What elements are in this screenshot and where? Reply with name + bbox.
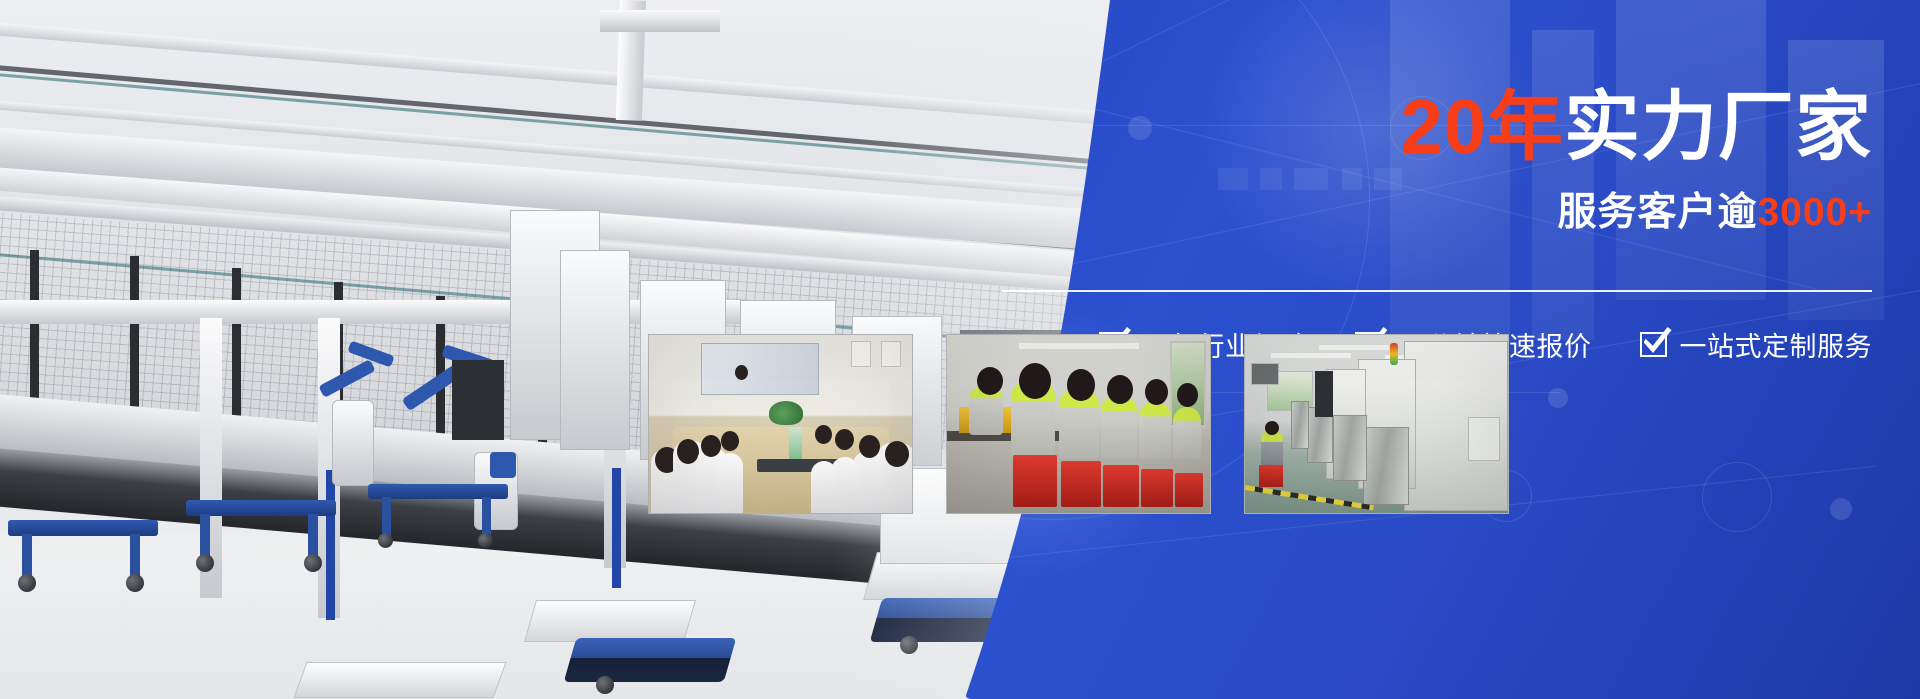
line-worker-3-head xyxy=(1107,375,1133,404)
headline-plain: 实力厂家 xyxy=(1564,85,1872,170)
page-subtitle: 服务客户逾3000+ xyxy=(1002,181,1872,237)
attendee-left-4-head xyxy=(721,431,739,451)
attendee-left-2-head xyxy=(677,439,699,464)
tech-node-4 xyxy=(1548,388,1568,408)
machine-operator xyxy=(1261,431,1283,467)
line-worker-2-head xyxy=(1067,369,1095,401)
red-stool-4 xyxy=(1141,469,1173,507)
meeting-room-photo[interactable] xyxy=(648,334,913,514)
steel-cabinet-4 xyxy=(1291,401,1309,449)
check-box-icon xyxy=(1640,332,1667,357)
line-worker-5 xyxy=(1173,407,1201,459)
feature-badge-3: 一站式定制服务 xyxy=(1640,325,1873,364)
line-worker-4 xyxy=(1139,401,1171,459)
attendee-left-3-head xyxy=(701,435,721,457)
andon-light xyxy=(1390,343,1398,365)
steel-cabinet-2 xyxy=(1333,415,1367,481)
tech-circle-3 xyxy=(1702,462,1772,532)
fluorescent-tube-2 xyxy=(1319,345,1389,350)
wall-poster-1 xyxy=(851,341,871,367)
machine-operator-head xyxy=(1265,421,1279,435)
tech-node-5 xyxy=(1830,498,1852,520)
projector-screen xyxy=(701,343,819,395)
red-stool-3 xyxy=(1103,465,1139,507)
meeting-room-scene xyxy=(649,335,912,513)
cnc-workshop-photo[interactable] xyxy=(1244,334,1509,514)
page-title: 20年实力厂家 xyxy=(1002,88,1872,167)
photo-thumbnail-strip xyxy=(648,334,1509,514)
line-worker-1-head xyxy=(1019,363,1051,399)
headline-block: 20年实力厂家 服务客户逾3000+ xyxy=(1002,88,1872,237)
line-worker-3 xyxy=(1101,395,1137,459)
attendee-right-3-head xyxy=(835,429,854,450)
presenter-head xyxy=(735,365,748,380)
line-worker-5-head xyxy=(1177,383,1198,407)
divider-line xyxy=(1002,290,1872,292)
ceiling-lamp xyxy=(1019,343,1139,349)
table-plant xyxy=(769,401,803,425)
water-bottle xyxy=(789,427,802,461)
attendee-right-4-head xyxy=(815,425,832,444)
packing-worker-head xyxy=(977,367,1003,395)
cnc-control-panel xyxy=(1468,417,1500,461)
line-worker-4-head xyxy=(1145,379,1168,405)
subheadline-accent: 3000+ xyxy=(1757,191,1872,234)
red-stool-1 xyxy=(1013,455,1057,507)
feature-badge-3-label: 一站式定制服务 xyxy=(1680,325,1873,364)
attendee-right-1-head xyxy=(885,441,909,467)
wall-poster-2 xyxy=(881,341,901,367)
fluorescent-tube-1 xyxy=(1271,353,1351,358)
promo-banner: 20年实力厂家 服务客户逾3000+ 20年行业经验 30分钟快速报价 一站式定… xyxy=(0,0,1920,699)
steel-cabinet-1 xyxy=(1363,427,1409,505)
wall-box xyxy=(1251,363,1279,385)
red-stool-5 xyxy=(1175,473,1203,507)
cnc-workshop-scene xyxy=(1245,335,1508,513)
red-stool-2 xyxy=(1061,461,1101,507)
headline-accent: 20年 xyxy=(1400,85,1564,170)
assembly-line-photo[interactable] xyxy=(946,334,1211,514)
floor-safety-stripe xyxy=(1245,485,1374,510)
attendee-left-4 xyxy=(717,453,743,513)
attendee-right-2-head xyxy=(859,435,880,458)
attendee-right-4 xyxy=(811,461,837,513)
assembly-line-scene xyxy=(947,335,1210,513)
operator-stool xyxy=(1259,465,1283,487)
subheadline-plain: 服务客户逾 xyxy=(1557,191,1757,234)
dark-machine xyxy=(1315,371,1333,417)
